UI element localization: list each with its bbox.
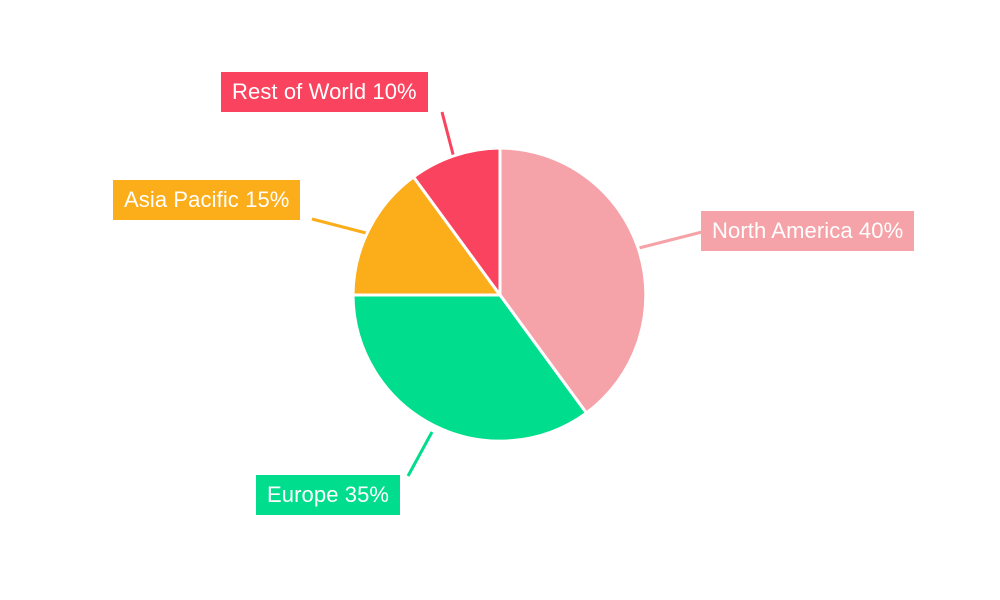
leader-line-rest-of-world <box>442 112 454 158</box>
leader-line-north-america <box>639 232 702 248</box>
leader-line-asia-pacific <box>312 219 366 233</box>
leader-line-europe <box>408 432 432 476</box>
slice-label-asia-pacific[interactable]: Asia Pacific 15% <box>113 180 300 220</box>
slice-label-rest-of-world[interactable]: Rest of World 10% <box>221 72 428 112</box>
slice-label-europe[interactable]: Europe 35% <box>256 475 400 515</box>
pie-chart-figure: North America 40% Europe 35% Asia Pacifi… <box>0 0 1000 600</box>
pie-slices <box>353 148 646 441</box>
pie-chart-canvas <box>0 0 1000 600</box>
slice-label-north-america[interactable]: North America 40% <box>701 211 914 251</box>
